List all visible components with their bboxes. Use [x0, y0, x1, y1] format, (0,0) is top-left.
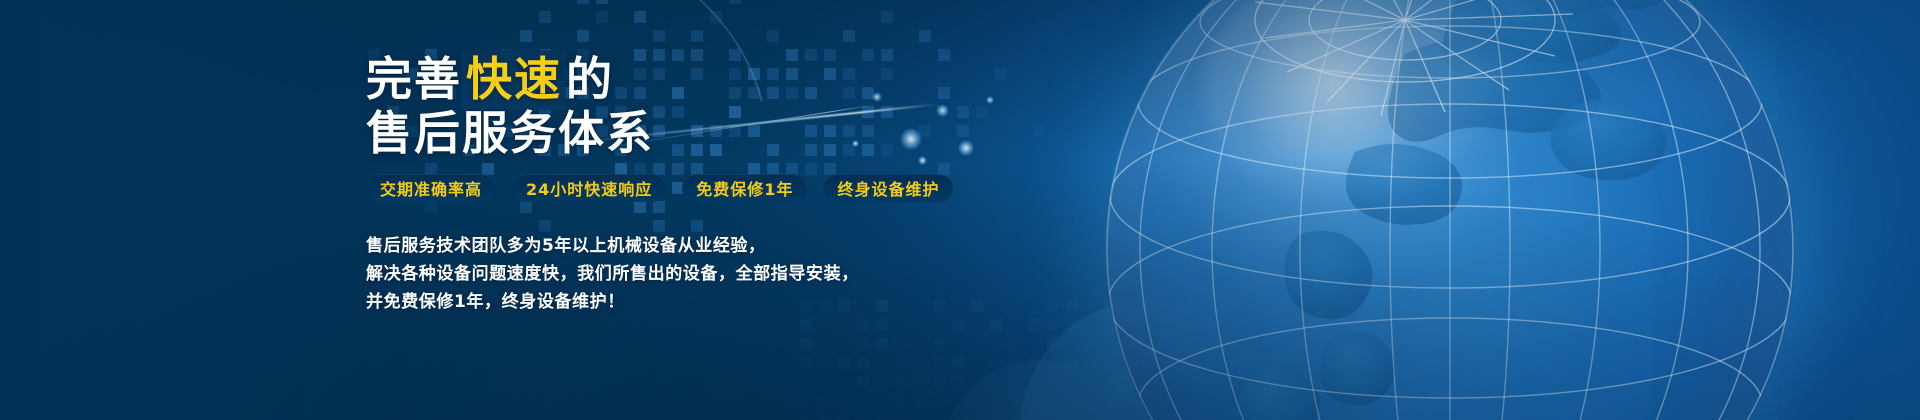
headline-part-2: 的 [566, 52, 614, 106]
after-sales-service-banner: 完善快速的 售后服务体系 交期准确率高 24小时快速响应 免费保修1年 终身设备… [0, 0, 1920, 420]
description-line-2: 解决各种设备问题速度快，我们所售出的设备，全部指导安装， [366, 260, 1066, 288]
feature-pill-list: 交期准确率高 24小时快速响应 免费保修1年 终身设备维护 [366, 174, 1066, 202]
description-line-3: 并免费保修1年，终身设备维护！ [366, 288, 1066, 316]
feature-pill-free-warranty[interactable]: 免费保修1年 [682, 174, 807, 202]
banner-headline: 完善快速的 售后服务体系 [366, 0, 1066, 160]
feature-pill-lifetime-maintenance[interactable]: 终身设备维护 [823, 174, 953, 202]
feature-pill-delivery-accuracy[interactable]: 交期准确率高 [366, 174, 496, 202]
description-line-1: 售后服务技术团队多为5年以上机械设备从业经验， [366, 232, 1066, 260]
headline-line-1: 完善快速的 [366, 52, 1066, 106]
feature-pill-24h-response[interactable]: 24小时快速响应 [512, 174, 666, 202]
headline-part-1: 完善 [366, 52, 462, 106]
banner-content: 完善快速的 售后服务体系 交期准确率高 24小时快速响应 免费保修1年 终身设备… [366, 0, 1066, 420]
headline-accent: 快速 [462, 50, 566, 110]
banner-description: 售后服务技术团队多为5年以上机械设备从业经验， 解决各种设备问题速度快，我们所售… [366, 232, 1066, 316]
headline-line-2: 售后服务体系 [366, 106, 1066, 160]
